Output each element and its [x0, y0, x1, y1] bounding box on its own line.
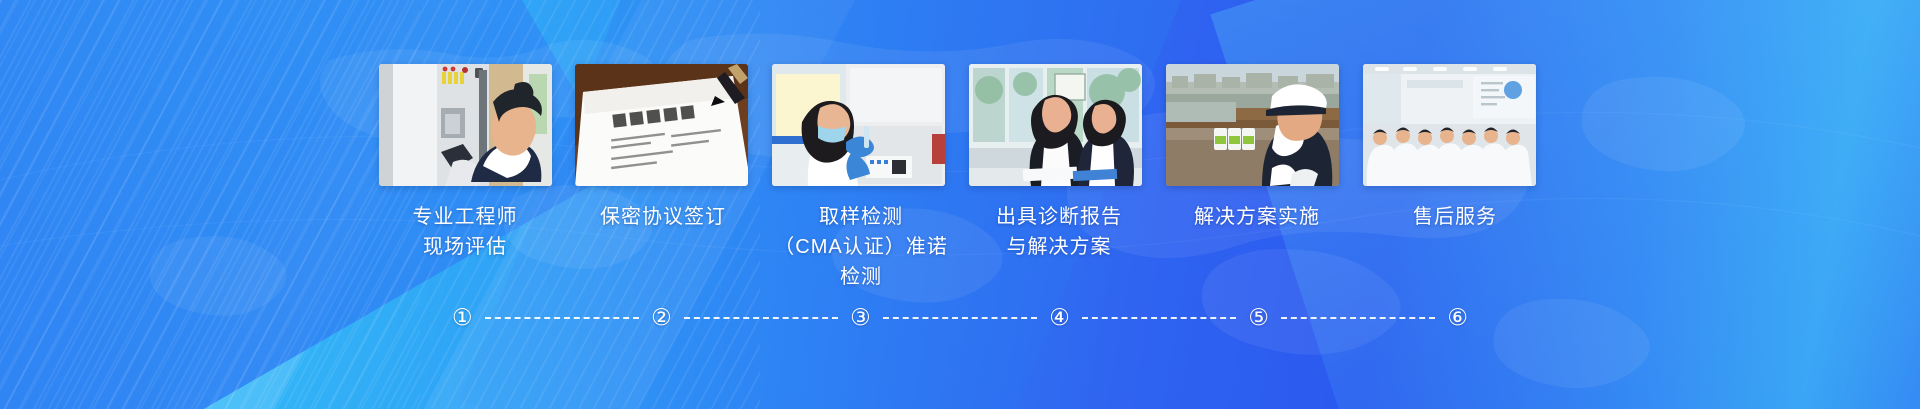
connector-3-4	[883, 317, 1037, 319]
connector-2-3	[684, 317, 838, 319]
step-3-photo	[772, 64, 945, 186]
process-step-4[interactable]: 出具诊断报告 与解决方案	[964, 64, 1154, 262]
connector-5-6	[1281, 317, 1435, 319]
step-4-caption: 出具诊断报告 与解决方案	[964, 202, 1154, 262]
service-process-banner: 专业工程师 现场评估	[0, 0, 1920, 409]
connector-1-2	[485, 317, 639, 319]
step-marker-4[interactable]: ④	[1049, 306, 1070, 329]
step-3-caption: 取样检测 （CMA认证）准诺检测	[766, 202, 956, 292]
step-2-photo	[575, 64, 748, 186]
step-1-caption: 专业工程师 现场评估	[370, 202, 560, 262]
step-marker-3[interactable]: ③	[850, 306, 871, 329]
process-step-6[interactable]: 售后服务	[1360, 64, 1550, 232]
process-content: 专业工程师 现场评估	[370, 0, 1550, 329]
process-step-3[interactable]: 取样检测 （CMA认证）准诺检测	[766, 64, 956, 292]
step-4-photo	[969, 64, 1142, 186]
process-step-5[interactable]: 解决方案实施	[1162, 64, 1352, 232]
process-steps: 专业工程师 现场评估	[370, 64, 1550, 292]
process-step-track: ① ② ③ ④ ⑤ ⑥	[370, 306, 1550, 329]
process-step-1[interactable]: 专业工程师 现场评估	[370, 64, 560, 262]
step-2-caption: 保密协议签订	[568, 202, 758, 232]
step-1-photo	[379, 64, 552, 186]
connector-4-5	[1082, 317, 1236, 319]
process-step-2[interactable]: 保密协议签订	[568, 64, 758, 232]
stripe-pattern-left	[0, 0, 420, 409]
step-marker-6[interactable]: ⑥	[1447, 306, 1468, 329]
step-marker-2[interactable]: ②	[651, 306, 672, 329]
step-6-caption: 售后服务	[1360, 202, 1550, 232]
step-6-photo	[1363, 64, 1536, 186]
step-5-photo	[1166, 64, 1339, 186]
step-marker-1[interactable]: ①	[452, 306, 473, 329]
step-marker-5[interactable]: ⑤	[1248, 306, 1269, 329]
step-5-caption: 解决方案实施	[1162, 202, 1352, 232]
